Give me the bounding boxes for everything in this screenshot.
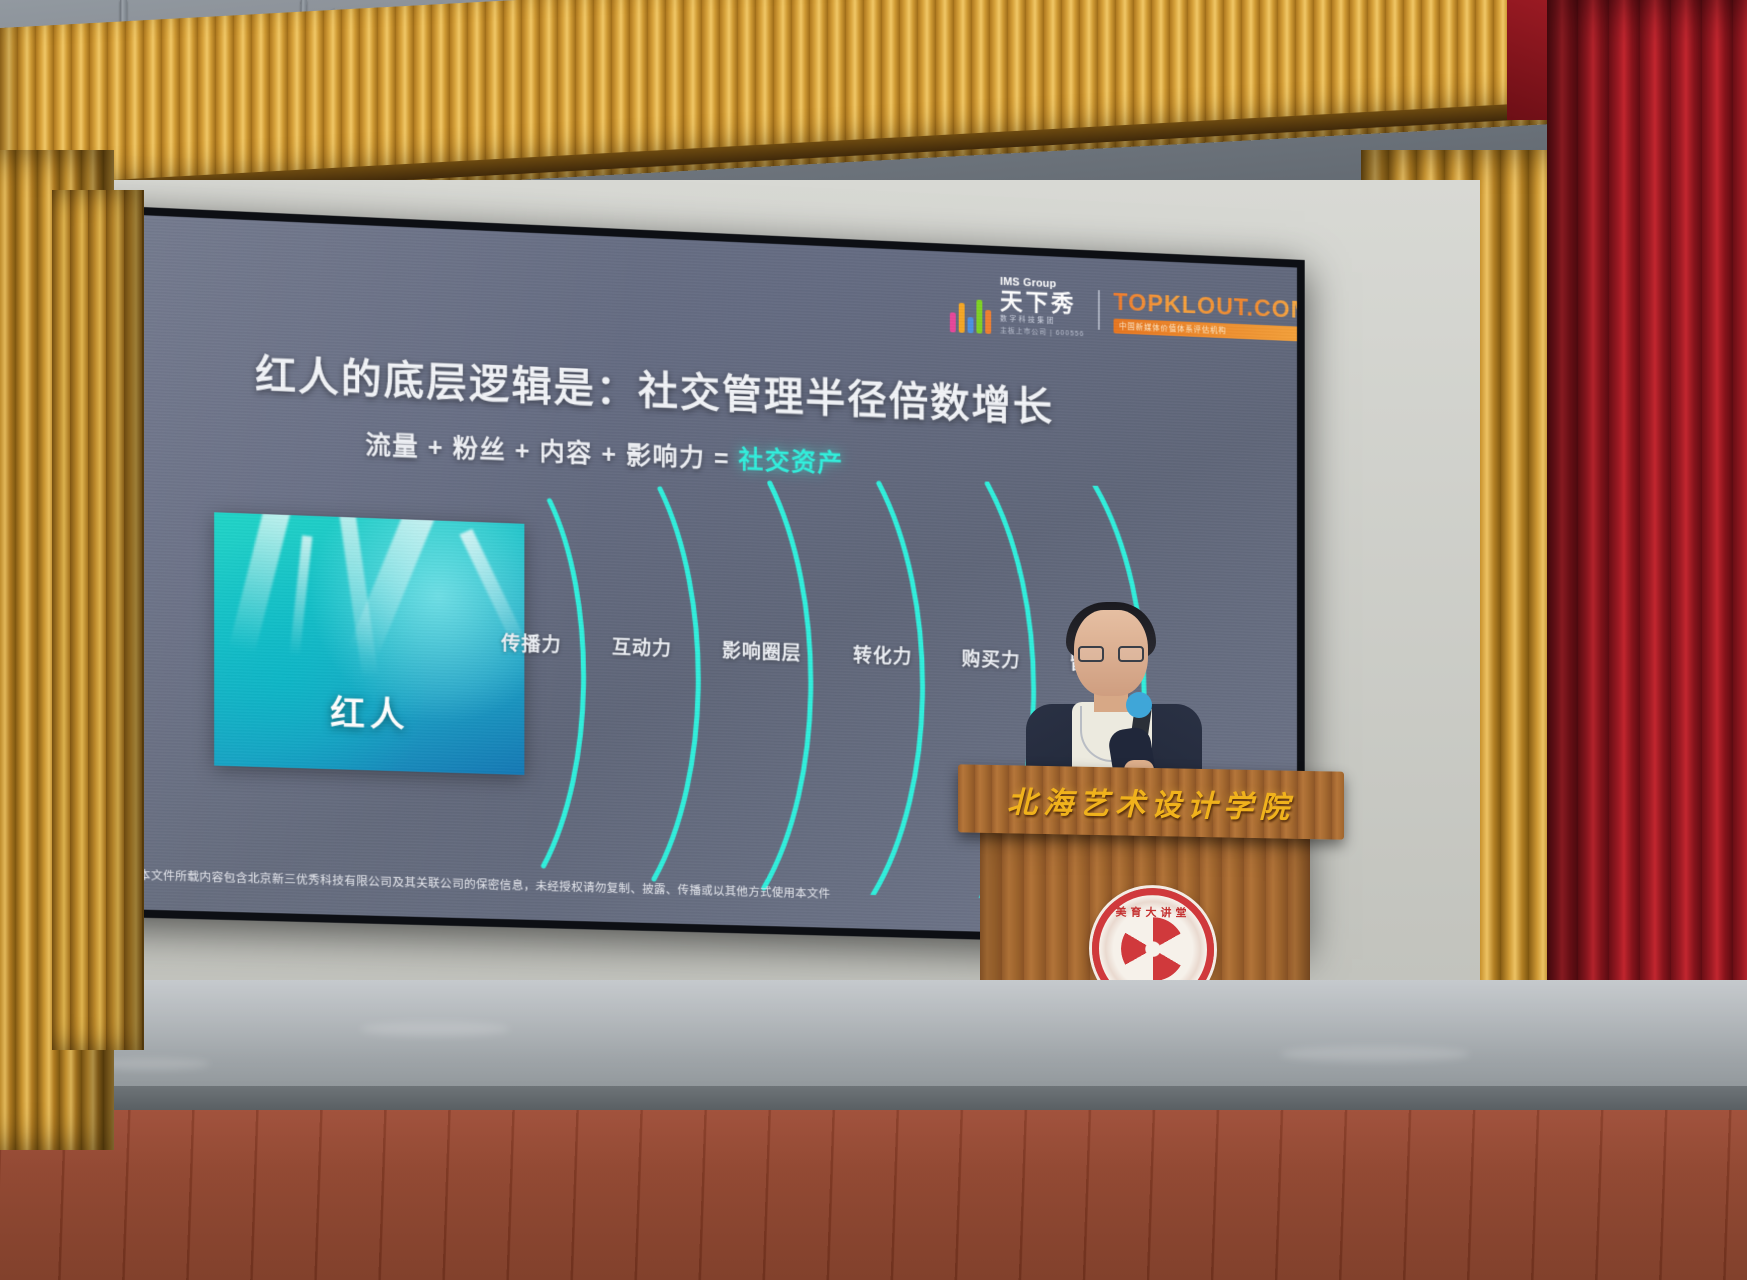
wave-label-2: 影响圈层 xyxy=(722,636,802,666)
topklout-logo: TOPKLOUT.COM 中国新媒体价值体系评估机构 克劳锐 xyxy=(1113,281,1297,350)
gold-curtain-left-inner xyxy=(52,190,144,1050)
slide-title: 红人的底层逻辑是：社交管理半径倍数增长 xyxy=(255,342,1054,433)
wave-label-4: 购买力 xyxy=(962,644,1021,673)
wave-label-3: 转化力 xyxy=(853,641,912,670)
ims-subline-label: 数字科技集团 xyxy=(1000,316,1084,327)
red-curtain-right xyxy=(1547,0,1747,1120)
emblem-chinese-label: 美育大讲堂 xyxy=(1099,903,1207,920)
slide-logo-bar: IMS Group 天下秀 数字科技集团 主板上市公司 | 600556 TOP… xyxy=(950,274,1297,350)
spiral-icon xyxy=(1121,917,1185,982)
stage-edge-strip xyxy=(0,1086,1747,1112)
podium-top: 北海艺术设计学院 xyxy=(958,764,1344,839)
ims-listing-code: 主板上市公司 | 600556 xyxy=(1000,327,1084,338)
podium-venue-name: 北海艺术设计学院 xyxy=(958,764,1344,839)
hero-label: 红人 xyxy=(214,681,524,740)
ims-chinese-label: 天下秀 xyxy=(1000,290,1084,316)
logo-divider xyxy=(1098,290,1100,330)
hero-image: 红人 xyxy=(214,512,524,775)
wave-label-0: 传播力 xyxy=(501,629,561,658)
glasses-icon xyxy=(1078,646,1144,663)
stage-scene: IMS Group 天下秀 数字科技集团 主板上市公司 | 600556 TOP… xyxy=(0,0,1747,1280)
wave-label-1: 互动力 xyxy=(612,632,672,661)
ims-bars-icon xyxy=(950,298,991,334)
stage-floor-red xyxy=(0,1110,1747,1280)
ims-group-logo: IMS Group 天下秀 数字科技集团 主板上市公司 | 600556 xyxy=(950,275,1084,338)
microphone-head-icon xyxy=(1126,692,1152,718)
